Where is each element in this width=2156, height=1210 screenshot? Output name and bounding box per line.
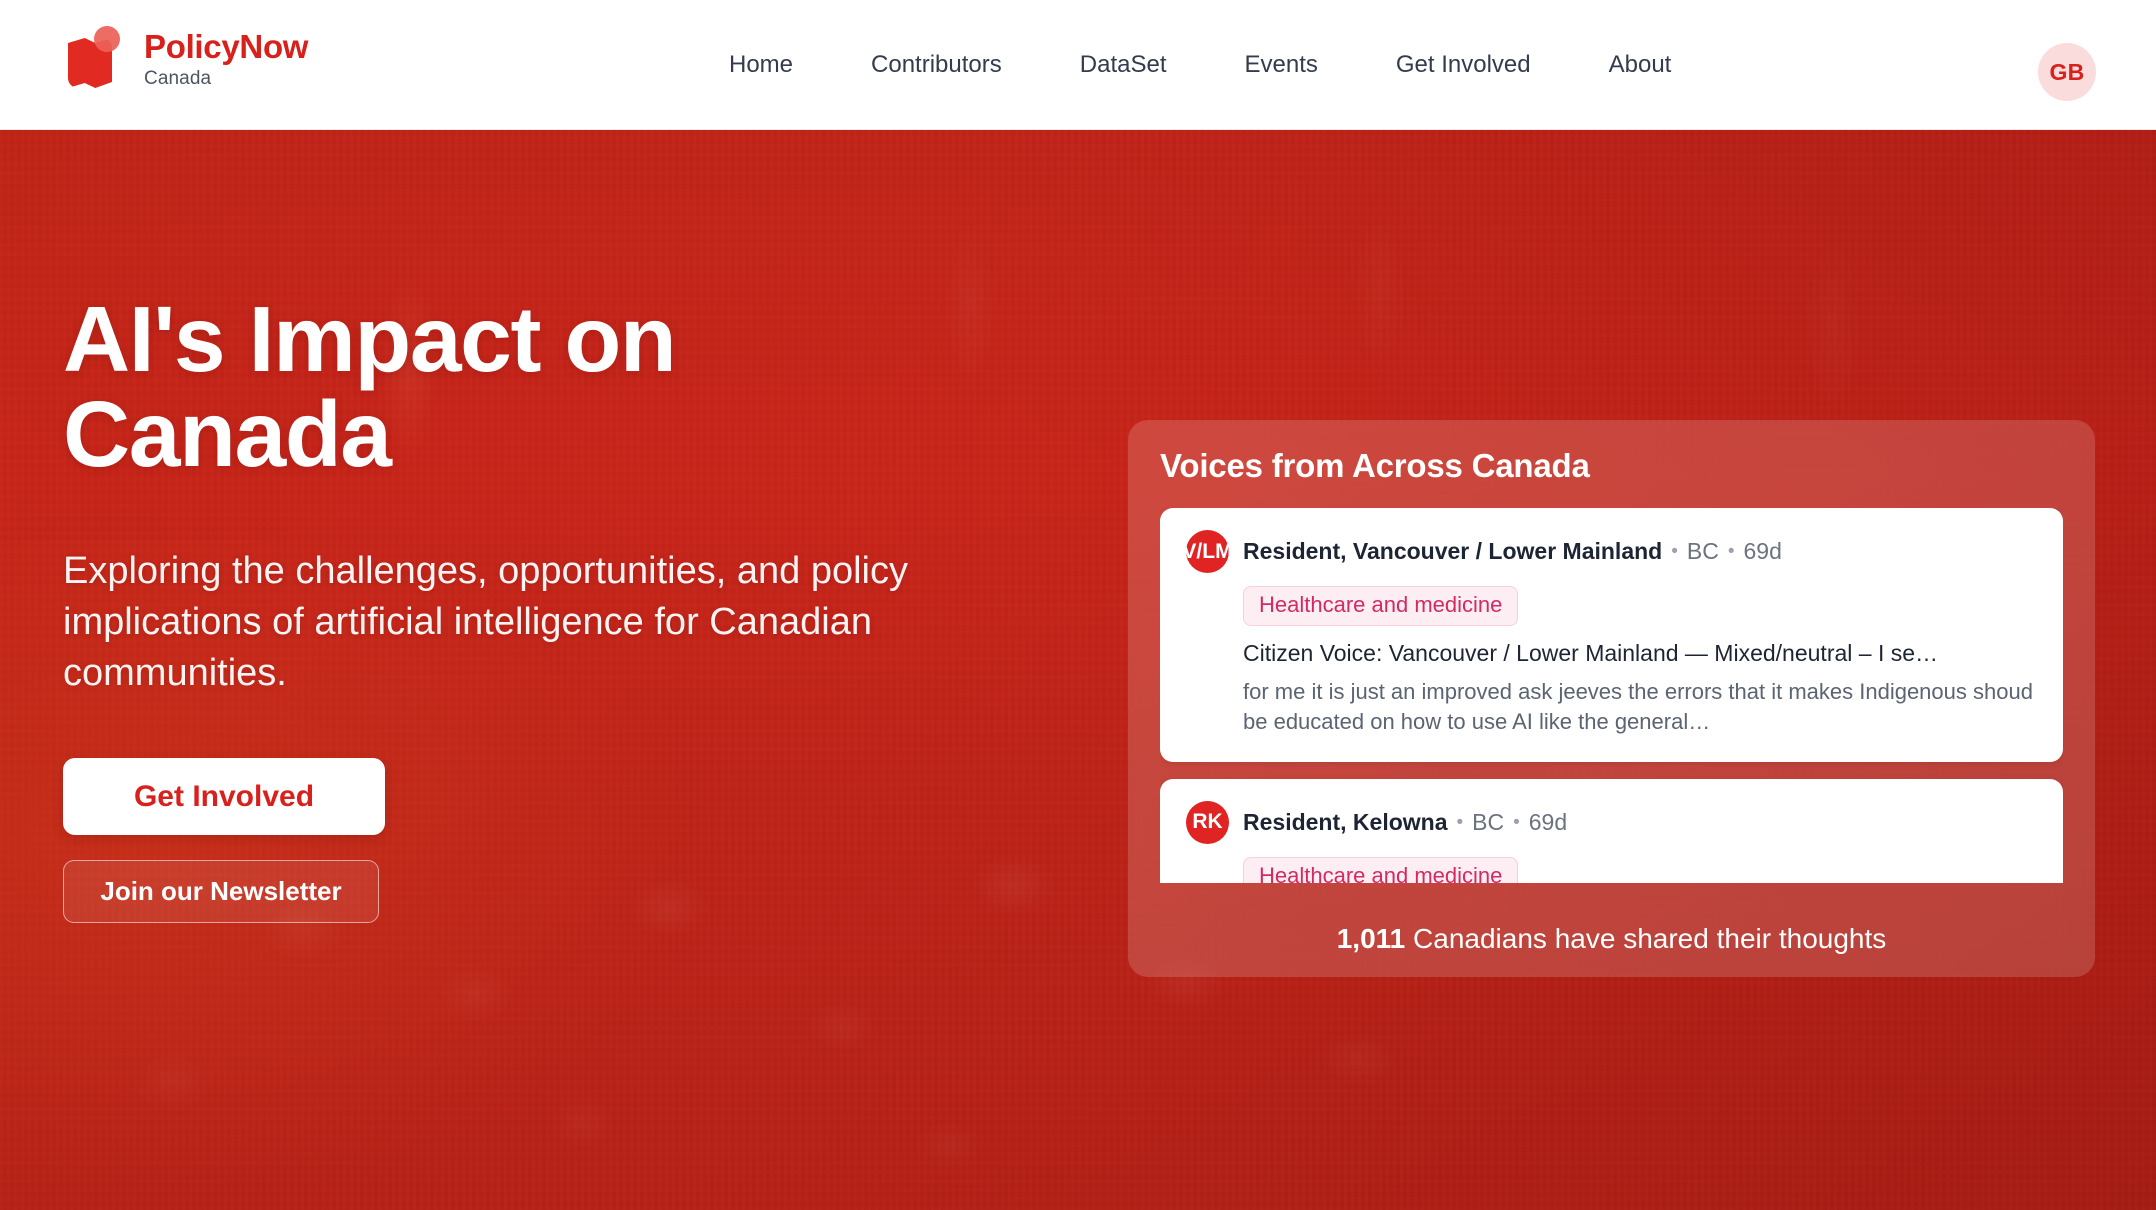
meta-separator-icon: • xyxy=(1456,812,1463,833)
meta-separator-icon: • xyxy=(1513,812,1520,833)
voices-stat: 1,011 Canadians have shared their though… xyxy=(1128,923,2095,955)
nav-item-get-involved[interactable]: Get Involved xyxy=(1357,51,1570,79)
nav-item-about[interactable]: About xyxy=(1570,51,1711,79)
brand-name: PolicyNow xyxy=(144,30,308,63)
voices-panel-title: Voices from Across Canada xyxy=(1160,447,1590,485)
user-avatar[interactable]: GB xyxy=(2038,43,2096,101)
avatar: RK xyxy=(1186,801,1229,844)
voice-author: Resident, Vancouver / Lower Mainland xyxy=(1243,538,1662,564)
topic-tag[interactable]: Healthcare and medicine xyxy=(1243,586,1518,626)
brand-subtitle: Canada xyxy=(144,69,308,88)
dot-accent-icon xyxy=(94,26,120,52)
hero-copy: AI's Impact on Canada Exploring the chal… xyxy=(63,292,1043,923)
avatar: V/LM xyxy=(1186,530,1229,573)
get-involved-button[interactable]: Get Involved xyxy=(63,758,385,835)
nav-item-events[interactable]: Events xyxy=(1205,51,1356,79)
hero-cta-group: Get Involved Join our Newsletter xyxy=(63,758,1043,923)
brand-logo[interactable]: PolicyNow Canada xyxy=(66,26,308,92)
page-title: AI's Impact on Canada xyxy=(63,292,863,482)
meta-separator-icon: • xyxy=(1728,541,1735,562)
nav-item-contributors[interactable]: Contributors xyxy=(832,51,1041,79)
nav-item-home[interactable]: Home xyxy=(690,51,832,79)
hero-subtitle: Exploring the challenges, opportunities,… xyxy=(63,546,973,699)
voice-author: Resident, Kelowna xyxy=(1243,809,1447,835)
voices-stat-count: 1,011 xyxy=(1337,923,1406,954)
join-newsletter-button[interactable]: Join our Newsletter xyxy=(63,860,379,923)
meta-separator-icon: • xyxy=(1671,541,1678,562)
voice-region: BC xyxy=(1687,538,1719,564)
voice-card-header: RK Resident, Kelowna•BC•69d xyxy=(1186,801,2037,844)
voices-panel: Voices from Across Canada V/LM Resident,… xyxy=(1128,420,2095,977)
voice-meta: Resident, Vancouver / Lower Mainland•BC•… xyxy=(1243,539,1782,564)
voices-scroll-area[interactable]: V/LM Resident, Vancouver / Lower Mainlan… xyxy=(1160,508,2063,883)
site-header: PolicyNow Canada Home Contributors DataS… xyxy=(0,0,2156,130)
voice-card-header: V/LM Resident, Vancouver / Lower Mainlan… xyxy=(1186,530,2037,573)
voice-age: 69d xyxy=(1743,538,1781,564)
voice-age: 69d xyxy=(1529,809,1567,835)
flag-map-icon xyxy=(66,26,128,92)
voice-meta: Resident, Kelowna•BC•69d xyxy=(1243,810,1567,835)
hero-section: AI's Impact on Canada Exploring the chal… xyxy=(0,130,2156,1210)
nav-item-dataset[interactable]: DataSet xyxy=(1041,51,1206,79)
main-nav: Home Contributors DataSet Events Get Inv… xyxy=(690,0,1710,130)
voices-stat-label: Canadians have shared their thoughts xyxy=(1413,923,1886,954)
brand-text: PolicyNow Canada xyxy=(144,30,308,88)
topic-tag[interactable]: Healthcare and medicine xyxy=(1243,857,1518,883)
voice-body: for me it is just an improved ask jeeves… xyxy=(1243,677,2033,738)
voice-title: Citizen Voice: Vancouver / Lower Mainlan… xyxy=(1243,640,2033,667)
voice-region: BC xyxy=(1472,809,1504,835)
voice-card[interactable]: V/LM Resident, Vancouver / Lower Mainlan… xyxy=(1160,508,2063,762)
voice-card[interactable]: RK Resident, Kelowna•BC•69d Healthcare a… xyxy=(1160,779,2063,883)
